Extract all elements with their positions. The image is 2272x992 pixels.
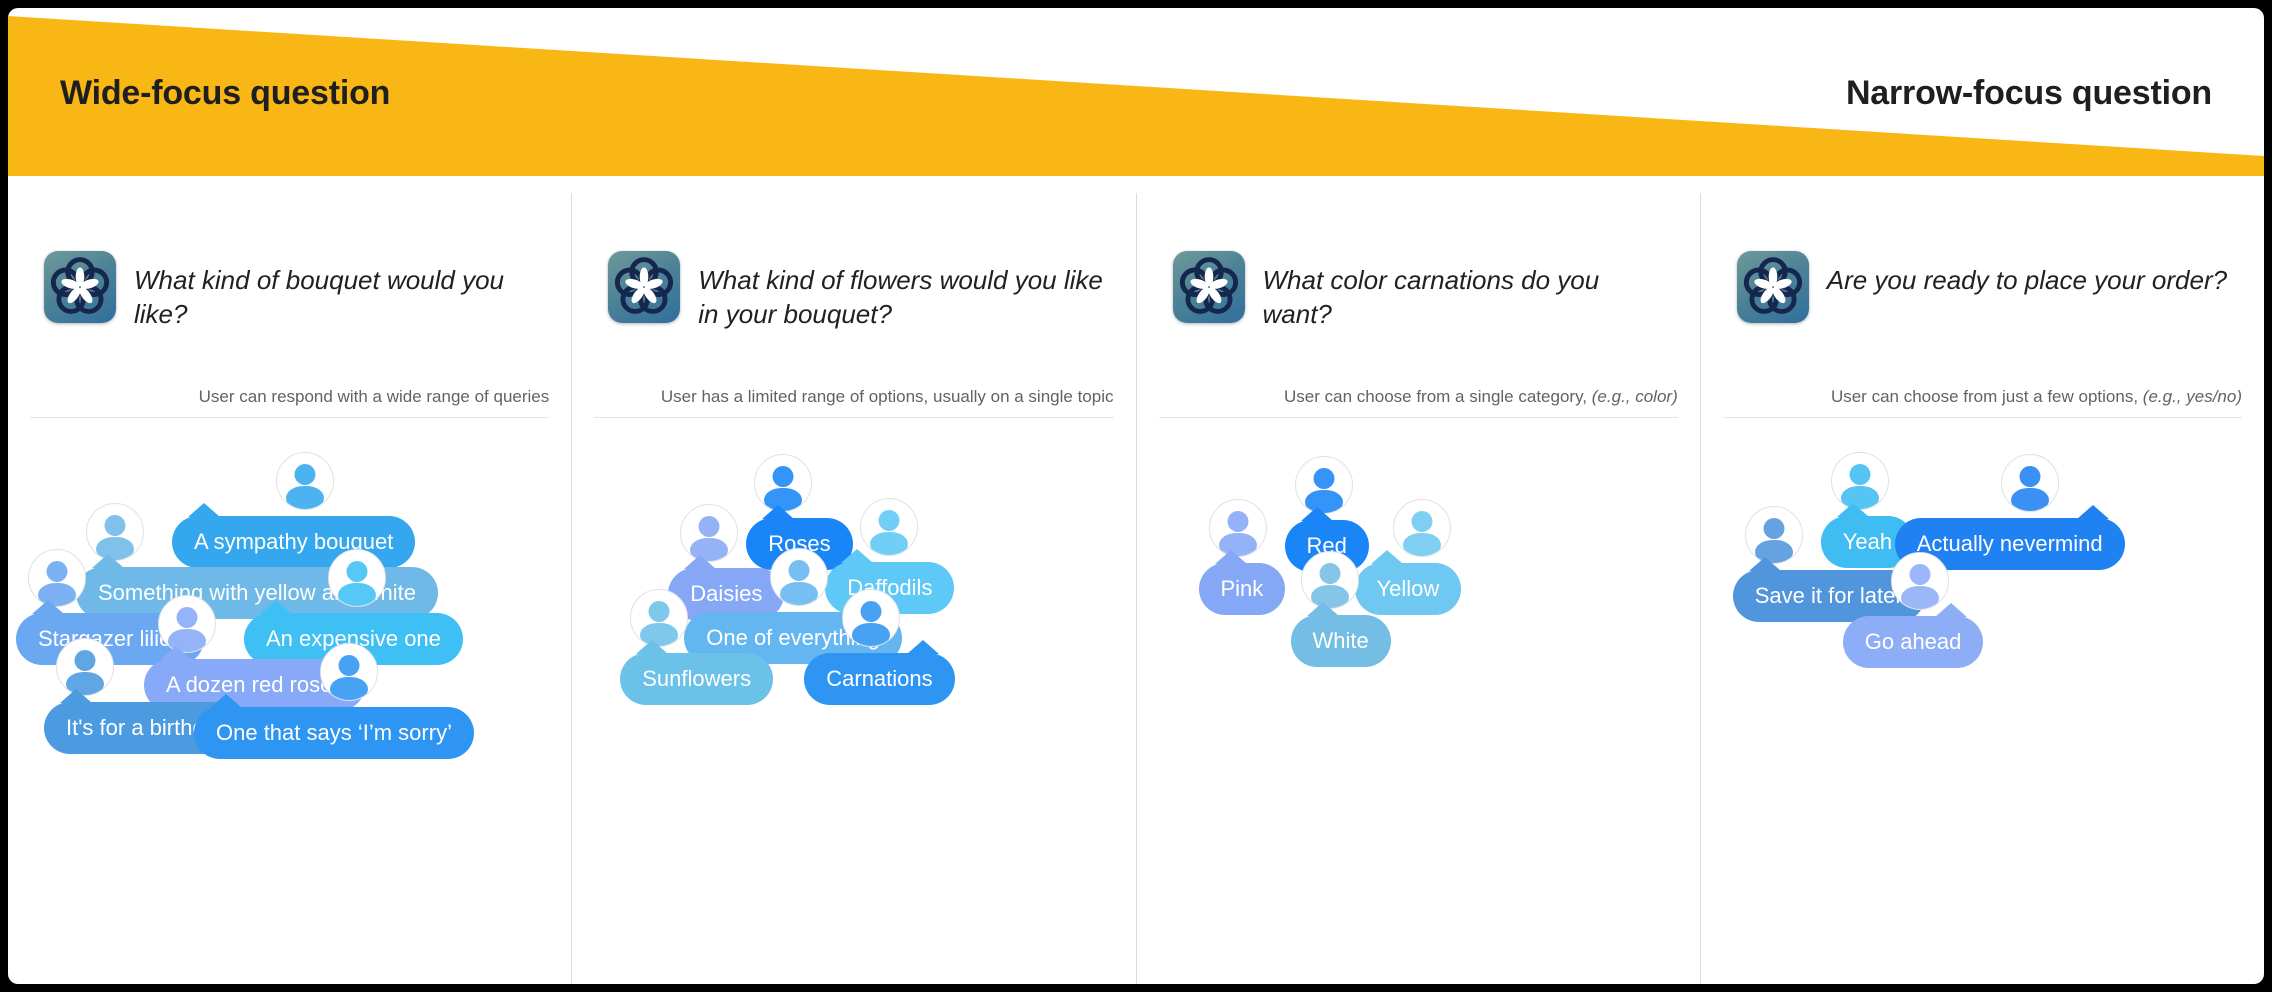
bubble-tail [762, 505, 794, 519]
bubble-tail [1837, 503, 1869, 517]
caption-main-text: User can respond with a wide range of qu… [199, 387, 550, 406]
bubble-tail [1215, 550, 1247, 564]
user-reply-label: Pink [1221, 576, 1264, 601]
avatar-head [879, 510, 900, 531]
bubble-tail [841, 549, 873, 563]
column-caption: User can respond with a wide range of qu… [30, 386, 549, 417]
column-caption-block: User can respond with a wide range of qu… [30, 386, 549, 418]
avatar-head [1849, 464, 1870, 485]
user-replies-canvas: YeahActually nevermindSave it for laterG… [1701, 448, 2264, 968]
caption-example-text: (e.g., color) [1592, 387, 1678, 406]
bubble-tail [684, 555, 716, 569]
caption-main-text: User can choose from a single category, [1284, 387, 1587, 406]
bubble-tail [1749, 557, 1781, 571]
bubble-tail [210, 694, 242, 708]
user-reply-bubble[interactable]: Sunflowers [620, 653, 773, 705]
bubble-tail [1307, 602, 1339, 616]
bubble-tail [60, 689, 92, 703]
user-avatar-icon [56, 638, 114, 696]
caption-divider [594, 417, 1113, 418]
user-avatar-icon [770, 548, 828, 606]
avatar-body [870, 532, 908, 556]
wide-focus-label: Wide-focus question [60, 74, 390, 113]
bubble-tail [1301, 507, 1333, 521]
avatar-head [75, 650, 96, 671]
focus-column-4: Are you ready to place your order?User c… [1701, 193, 2264, 984]
assistant-question-text: What kind of flowers would you like in y… [698, 251, 1111, 332]
avatar-head [295, 464, 316, 485]
user-reply-label: White [1313, 628, 1369, 653]
avatar-head [1313, 468, 1334, 489]
user-avatar-icon [320, 643, 378, 701]
user-reply-bubble[interactable]: White [1291, 615, 1391, 667]
caption-main-text: User can choose from just a few options, [1831, 387, 2138, 406]
column-caption-block: User can choose from just a few options,… [1723, 386, 2242, 418]
avatar-body [1901, 586, 1939, 610]
avatar-body [330, 677, 368, 701]
avatar-head [47, 561, 68, 582]
user-reply-bubble[interactable]: Yellow [1355, 563, 1462, 615]
user-reply-label: A dozen red roses [166, 672, 343, 697]
user-avatar-icon [860, 498, 918, 556]
focus-column-2: What kind of flowers would you like in y… [572, 193, 1136, 984]
user-reply-bubble[interactable]: Go ahead [1843, 616, 1984, 668]
user-avatar-icon [754, 454, 812, 512]
avatar-head [1909, 564, 1930, 585]
focus-column-1: What kind of bouquet would you like?User… [8, 193, 572, 984]
user-reply-label: Daisies [690, 581, 762, 606]
user-avatar-icon [86, 503, 144, 561]
user-avatar-icon [328, 549, 386, 607]
user-reply-bubble[interactable]: Pink [1199, 563, 1286, 615]
user-avatar-icon [28, 549, 86, 607]
bubble-tail [1371, 550, 1403, 564]
user-reply-label: Save it for later [1755, 583, 1903, 608]
avatar-body [2011, 488, 2049, 512]
bubble-tail [907, 640, 939, 654]
flower-app-icon [608, 251, 680, 323]
avatar-head [1319, 563, 1340, 584]
caption-example-text: (e.g., yes/no) [2143, 387, 2242, 406]
avatar-head [861, 601, 882, 622]
avatar-head [1411, 511, 1432, 532]
column-caption: User can choose from a single category, … [1159, 386, 1678, 417]
caption-divider [1159, 417, 1678, 418]
user-replies-canvas: RosesDaffodilsDaisiesOne of everythingSu… [572, 448, 1135, 968]
columns-container: What kind of bouquet would you like?User… [8, 193, 2264, 984]
user-reply-label: Yeah [1843, 529, 1892, 554]
user-avatar-icon [1745, 506, 1803, 564]
avatar-body [338, 583, 376, 607]
user-avatar-icon [630, 589, 688, 647]
user-reply-label: Sunflowers [642, 666, 751, 691]
assistant-prompt: What kind of bouquet would you like? [44, 251, 547, 332]
bubble-tail [160, 646, 192, 660]
user-replies-canvas: A sympathy bouquetSomething with yellow … [8, 448, 571, 968]
flower-app-icon [1737, 251, 1809, 323]
caption-main-text: User has a limited range of options, usu… [661, 387, 1114, 406]
flower-app-icon [44, 251, 116, 323]
diagram-frame: Wide-focus question Narrow-focus questio… [8, 8, 2264, 984]
user-avatar-icon [1831, 452, 1889, 510]
assistant-prompt: Are you ready to place your order? [1737, 251, 2240, 323]
avatar-head [773, 466, 794, 487]
user-reply-label: One that says ‘I’m sorry’ [216, 720, 452, 745]
user-reply-label: Carnations [826, 666, 932, 691]
user-avatar-icon [1393, 499, 1451, 557]
avatar-head [2019, 466, 2040, 487]
avatar-head [105, 515, 126, 536]
user-avatar-icon [1295, 456, 1353, 514]
avatar-head [649, 601, 670, 622]
bubble-tail [188, 503, 220, 517]
avatar-head [1763, 518, 1784, 539]
column-caption-block: User has a limited range of options, usu… [594, 386, 1113, 418]
column-caption-block: User can choose from a single category, … [1159, 386, 1678, 418]
user-avatar-icon [158, 595, 216, 653]
avatar-head [699, 516, 720, 537]
user-reply-bubble[interactable]: One that says ‘I’m sorry’ [194, 707, 474, 759]
avatar-head [177, 607, 198, 628]
flower-app-icon [1173, 251, 1245, 323]
avatar-body [1403, 533, 1441, 557]
assistant-question-text: What kind of bouquet would you like? [134, 251, 547, 332]
caption-divider [30, 417, 549, 418]
focus-column-3: What color carnations do you want?User c… [1137, 193, 1701, 984]
user-avatar-icon [2001, 454, 2059, 512]
avatar-body [780, 582, 818, 606]
user-avatar-icon [842, 589, 900, 647]
user-avatar-icon [1209, 499, 1267, 557]
avatar-body [852, 623, 890, 647]
user-avatar-icon [1891, 552, 1949, 610]
header-band: Wide-focus question Narrow-focus questio… [8, 8, 2264, 193]
avatar-head [1227, 511, 1248, 532]
avatar-head [339, 655, 360, 676]
column-caption: User has a limited range of options, usu… [594, 386, 1113, 417]
assistant-prompt: What color carnations do you want? [1173, 251, 1676, 332]
user-avatar-icon [680, 504, 738, 562]
user-reply-bubble[interactable]: Carnations [804, 653, 954, 705]
bubble-tail [32, 600, 64, 614]
user-reply-label: Actually nevermind [1917, 531, 2103, 556]
caption-divider [1723, 417, 2242, 418]
column-caption: User can choose from just a few options,… [1723, 386, 2242, 417]
bubble-tail [636, 640, 668, 654]
assistant-prompt: What kind of flowers would you like in y… [608, 251, 1111, 332]
assistant-question-text: Are you ready to place your order? [1827, 251, 2227, 297]
bubble-tail [92, 554, 124, 568]
user-avatar-icon [276, 452, 334, 510]
assistant-question-text: What color carnations do you want? [1263, 251, 1676, 332]
user-reply-label: Yellow [1377, 576, 1440, 601]
narrow-focus-label: Narrow-focus question [1846, 74, 2212, 113]
bubble-tail [260, 600, 292, 614]
avatar-head [789, 560, 810, 581]
bubble-tail [2077, 505, 2109, 519]
user-avatar-icon [1301, 551, 1359, 609]
bubble-tail [1935, 603, 1967, 617]
user-replies-canvas: RedPinkYellowWhite [1137, 448, 1700, 968]
user-reply-label: Go ahead [1865, 629, 1962, 654]
avatar-body [286, 486, 324, 510]
avatar-head [347, 561, 368, 582]
